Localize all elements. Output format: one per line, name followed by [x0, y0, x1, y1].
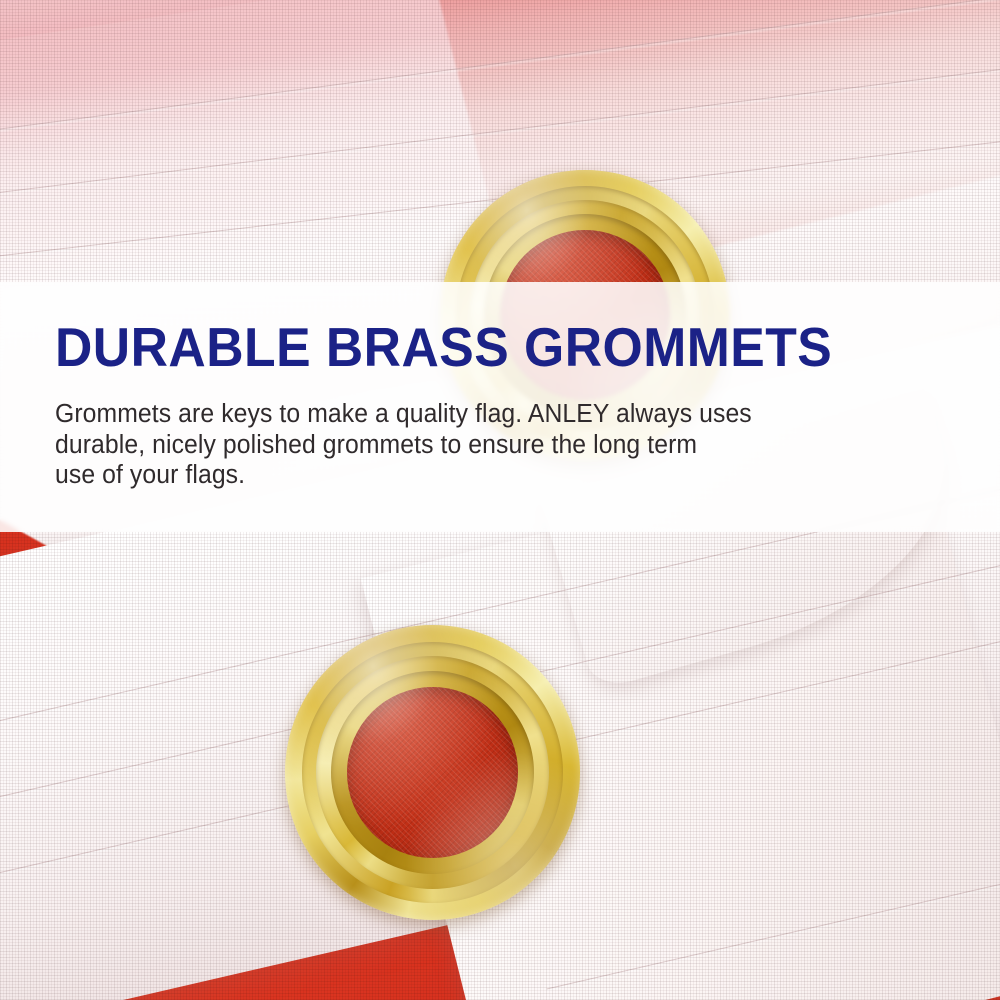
page-title: DURABLE BRASS GROMMETS — [55, 320, 906, 375]
text-overlay-panel: DURABLE BRASS GROMMETS Grommets are keys… — [0, 282, 1000, 532]
product-image-canvas: DURABLE BRASS GROMMETS Grommets are keys… — [0, 0, 1000, 1000]
description-line-2: durable, nicely polished grommets to ens… — [55, 430, 909, 461]
grommet-hole-red-fabric — [347, 687, 518, 858]
description-line-1: Grommets are keys to make a quality flag… — [55, 399, 909, 430]
overlay-text-block: DURABLE BRASS GROMMETS Grommets are keys… — [55, 320, 960, 491]
brass-grommet-bottom — [285, 625, 580, 920]
description-line-3: use of your flags. — [55, 460, 909, 491]
